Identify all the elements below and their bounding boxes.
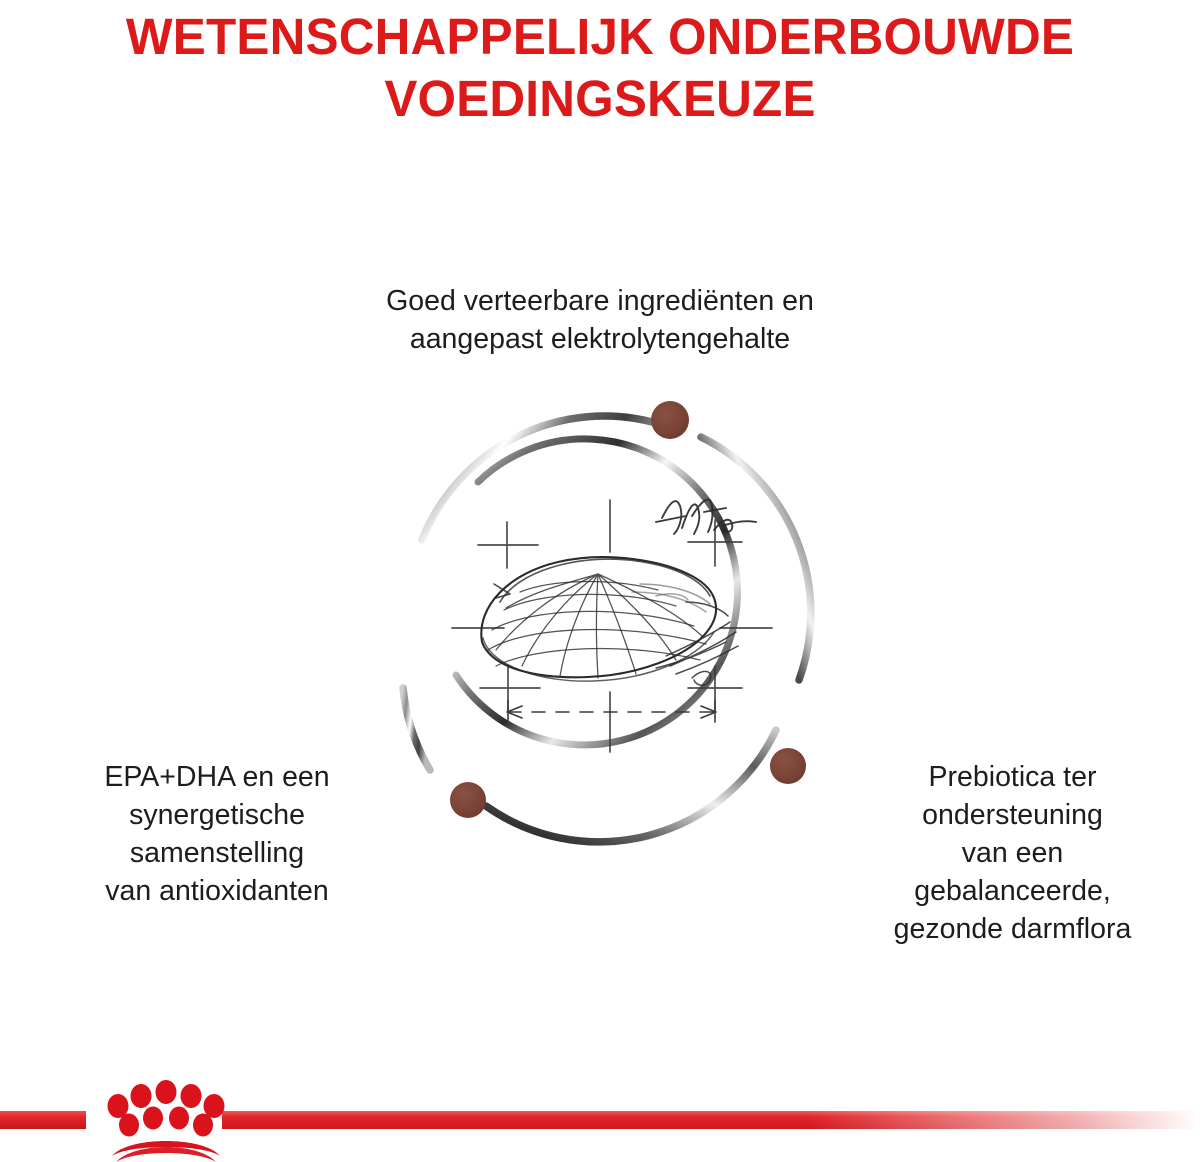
callout-label-right: Prebiotica ter ondersteuning van een geb…: [840, 758, 1185, 948]
node-dot-top[interactable]: [651, 401, 689, 439]
callout-label-left: EPA+DHA en een synergetische samenstelli…: [32, 758, 402, 910]
footer-bar-left: [0, 1111, 86, 1129]
footer-bar-right: [222, 1111, 1200, 1129]
radial-diagram: [370, 370, 850, 850]
outer-ring-arc-bottom: [486, 730, 776, 842]
royal-canin-crown-logo: [108, 1080, 225, 1162]
page-title: Wetenschappelijk onderbouwde voedingskeu…: [18, 6, 1182, 130]
infographic-page: Wetenschappelijk onderbouwde voedingskeu…: [0, 0, 1200, 1162]
callout-label-top: Goed verteerbare ingrediënten en aangepa…: [300, 282, 900, 358]
outer-ring-arc-left: [403, 688, 430, 770]
footer-brand-bar: [0, 1080, 1200, 1162]
outer-ring-arc-top: [422, 416, 656, 540]
node-dot-bottom-right[interactable]: [770, 748, 806, 784]
node-dot-bottom-left[interactable]: [450, 782, 486, 818]
